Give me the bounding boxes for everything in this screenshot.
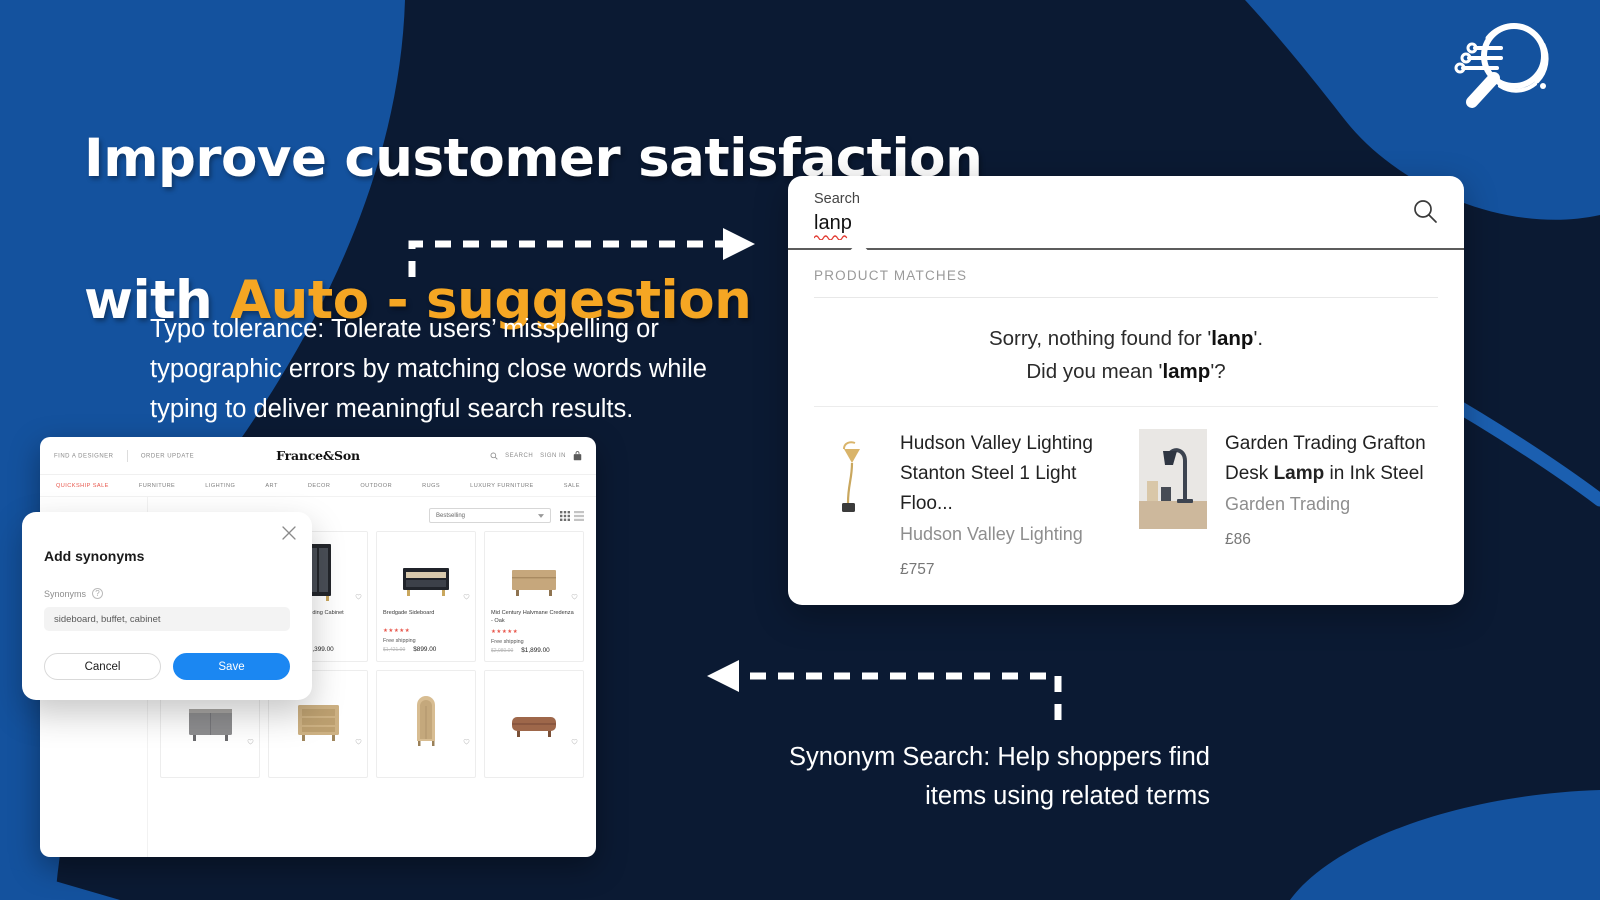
product-card[interactable] xyxy=(484,670,584,778)
results-heading: PRODUCT MATCHES xyxy=(788,250,1464,298)
did-you-mean-message[interactable]: Did you mean 'lamp'? xyxy=(788,360,1464,406)
product-title-bold: Lamp xyxy=(1274,463,1325,484)
product-image-halvmane-credenza xyxy=(485,532,583,604)
product-info: Hudson Valley Lighting Stanton Steel 1 L… xyxy=(900,429,1113,579)
utility-link-find-a-designer[interactable]: FIND A DESIGNER xyxy=(54,453,114,459)
floor-lamp-thumbnail xyxy=(814,429,882,529)
list-view-icon[interactable] xyxy=(574,511,584,521)
cancel-button[interactable]: Cancel xyxy=(44,653,161,680)
sort-dropdown-value: Bestselling xyxy=(436,513,465,519)
product-rating-stars: ★★★★★ xyxy=(383,628,469,634)
no-results-prefix: Sorry, nothing found for ' xyxy=(989,327,1211,350)
help-icon[interactable]: ? xyxy=(92,588,103,599)
product-prices: $2,980.00 $1,899.00 xyxy=(491,647,577,654)
product-meta: Bredgade Sideboard ★★★★★ Free shipping $… xyxy=(377,604,475,660)
product-name: Bredgade Sideboard xyxy=(383,609,469,625)
site-utility-links: FIND A DESIGNER ORDER UPDATE xyxy=(54,450,194,462)
suggestion-term: lamp xyxy=(1162,360,1210,383)
close-icon[interactable] xyxy=(282,526,296,545)
product-meta: Mid Century Halvmane Credenza - Oak ★★★★… xyxy=(485,604,583,661)
wishlist-heart-icon[interactable] xyxy=(355,738,362,745)
dashed-arrow-left-icon xyxy=(695,648,1075,733)
product-original-price: $1,421.00 xyxy=(383,647,405,653)
product-rating-stars: ★★★★★ xyxy=(491,629,577,635)
synonyms-input[interactable]: sideboard, buffet, cabinet xyxy=(44,607,290,631)
product-title-post: in Ink Steel xyxy=(1324,463,1423,484)
product-card[interactable]: Bredgade Sideboard ★★★★★ Free shipping $… xyxy=(376,531,476,662)
grid-view-icon[interactable] xyxy=(560,511,570,521)
product-name xyxy=(383,754,469,770)
product-brand: Hudson Valley Lighting xyxy=(900,524,1113,545)
view-toggle-group xyxy=(560,511,584,521)
wishlist-heart-icon[interactable] xyxy=(463,738,470,745)
nav-item-sale[interactable]: SALE xyxy=(564,483,580,489)
add-synonyms-modal: Add synonyms Synonyms ? sideboard, buffe… xyxy=(22,512,312,700)
utility-divider xyxy=(127,450,128,462)
site-search-label[interactable]: SEARCH xyxy=(505,453,533,459)
product-card[interactable]: Mid Century Halvmane Credenza - Oak ★★★★… xyxy=(484,531,584,662)
utility-link-order-update[interactable]: ORDER UPDATE xyxy=(141,453,194,459)
search-input-value[interactable]: lanp xyxy=(814,212,852,238)
site-right-actions: SEARCH SIGN IN xyxy=(490,451,582,461)
product-title: Hudson Valley Lighting Stanton Steel 1 L… xyxy=(900,429,1113,519)
product-price: £86 xyxy=(1225,531,1438,549)
no-results-suffix: '. xyxy=(1253,327,1263,350)
smart-search-magnifier-logo xyxy=(1442,14,1562,119)
chevron-down-icon xyxy=(538,514,544,518)
product-price: £757 xyxy=(900,561,1113,579)
site-brand-logo[interactable]: France&Son xyxy=(276,448,360,463)
search-icon[interactable] xyxy=(1412,198,1438,229)
nav-item-furniture[interactable]: FURNITURE xyxy=(139,483,175,489)
product-meta xyxy=(269,749,367,777)
product-image-leather-bench xyxy=(485,671,583,749)
site-signin-label[interactable]: SIGN IN xyxy=(540,453,566,459)
search-query-text: lanp xyxy=(814,212,852,234)
synonyms-input-value: sideboard, buffet, cabinet xyxy=(54,614,161,625)
product-shipping: Free shipping xyxy=(491,639,577,645)
nav-item-rugs[interactable]: RUGS xyxy=(422,483,440,489)
synonyms-label-text: Synonyms xyxy=(44,589,86,599)
product-result-item[interactable]: Hudson Valley Lighting Stanton Steel 1 L… xyxy=(814,429,1113,579)
search-input-area[interactable]: Search lanp xyxy=(788,176,1464,248)
suggestion-suffix: '? xyxy=(1210,360,1225,383)
spellcheck-squiggle-icon xyxy=(814,234,852,240)
product-name xyxy=(491,754,577,770)
product-card[interactable] xyxy=(376,670,476,778)
product-original-price: $2,980.00 xyxy=(491,648,513,654)
product-meta xyxy=(485,749,583,777)
modal-title: Add synonyms xyxy=(44,548,290,564)
nav-item-art[interactable]: ART xyxy=(265,483,277,489)
nav-item-quickship-sale[interactable]: QUICKSHIP SALE xyxy=(56,483,109,489)
desk-lamp-thumbnail xyxy=(1139,429,1207,529)
modal-actions: Cancel Save xyxy=(44,653,290,680)
no-results-message: Sorry, nothing found for 'lanp'. xyxy=(788,298,1464,361)
product-image-rattan-arch-cabinet xyxy=(377,671,475,749)
product-image-bredgade-sideboard xyxy=(377,532,475,604)
wishlist-heart-icon[interactable] xyxy=(571,593,578,600)
nav-item-lighting[interactable]: LIGHTING xyxy=(205,483,235,489)
product-title: Garden Trading Grafton Desk Lamp in Ink … xyxy=(1225,429,1438,489)
nav-item-luxury-furniture[interactable]: LUXURY FURNITURE xyxy=(470,483,534,489)
site-navigation: QUICKSHIP SALE FURNITURE LIGHTING ART DE… xyxy=(40,475,596,497)
site-top-bar: FIND A DESIGNER ORDER UPDATE France&Son … xyxy=(40,437,596,475)
search-autosuggest-card: Search lanp PRODUCT MATCHES Sorry, nothi… xyxy=(788,176,1464,605)
product-title-pre: Hudson Valley Lighting Stanton Steel 1 L… xyxy=(900,433,1093,514)
wishlist-heart-icon[interactable] xyxy=(571,738,578,745)
nav-item-outdoor[interactable]: OUTDOOR xyxy=(360,483,392,489)
results-heading-label: PRODUCT MATCHES xyxy=(814,268,967,283)
synonyms-field-label: Synonyms ? xyxy=(44,588,290,599)
save-button[interactable]: Save xyxy=(173,653,290,680)
product-result-item[interactable]: Garden Trading Grafton Desk Lamp in Ink … xyxy=(1139,429,1438,579)
suggestion-prefix: Did you mean ' xyxy=(1026,360,1162,383)
product-prices: $1,421.00 $899.00 xyxy=(383,646,469,653)
site-search-icon[interactable] xyxy=(490,452,498,460)
no-results-term: lanp xyxy=(1211,327,1253,350)
synonym-search-description: Synonym Search: Help shoppers find items… xyxy=(780,738,1210,816)
product-name: Mid Century Halvmane Credenza - Oak xyxy=(491,609,577,626)
sort-dropdown[interactable]: Bestselling xyxy=(429,508,551,523)
product-name xyxy=(275,754,361,770)
search-label: Search xyxy=(814,190,1438,210)
product-brand: Garden Trading xyxy=(1225,494,1438,515)
wishlist-heart-icon[interactable] xyxy=(355,593,362,600)
product-sale-price: $899.00 xyxy=(413,646,436,653)
typo-tolerance-description: Typo tolerance: Tolerate users’ misspell… xyxy=(150,310,775,429)
product-meta xyxy=(161,749,259,777)
nav-item-decor[interactable]: DECOR xyxy=(308,483,330,489)
product-sale-price: $1,899.00 xyxy=(521,647,549,654)
wishlist-heart-icon[interactable] xyxy=(247,738,254,745)
wishlist-heart-icon[interactable] xyxy=(463,593,470,600)
product-meta xyxy=(377,749,475,777)
product-info: Garden Trading Grafton Desk Lamp in Ink … xyxy=(1225,429,1438,579)
shopping-bag-icon[interactable] xyxy=(573,451,582,461)
product-shipping: Free shipping xyxy=(383,638,469,644)
product-matches-grid: Hudson Valley Lighting Stanton Steel 1 L… xyxy=(788,407,1464,605)
product-name xyxy=(167,754,253,770)
